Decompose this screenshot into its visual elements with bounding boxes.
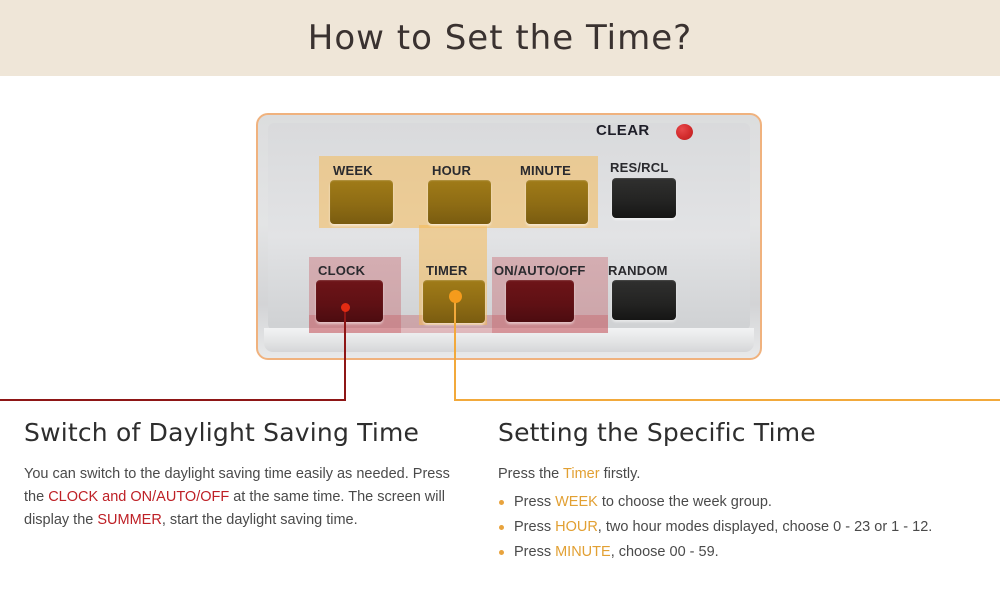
left-section: Switch of Daylight Saving Time You can s… xyxy=(24,418,474,532)
right-section-bullet-list: Press WEEK to choose the week group. Pre… xyxy=(498,490,978,565)
left-text-part3: , start the daylight saving time. xyxy=(162,512,358,528)
bullet-1-part1: Press xyxy=(514,519,555,535)
list-item: Press HOUR, two hour modes displayed, ch… xyxy=(498,515,978,540)
key-label-minute: MINUTE xyxy=(520,163,571,178)
callout-line-timer-vertical xyxy=(454,296,456,400)
clear-label: CLEAR xyxy=(596,122,650,139)
key-button-onautooff[interactable] xyxy=(506,280,574,322)
key-label-hour: HOUR xyxy=(432,163,471,178)
bullet-2-highlight: MINUTE xyxy=(555,544,611,560)
list-item: Press MINUTE, choose 00 - 59. xyxy=(498,540,978,565)
left-text-highlight-clock-onautooff: CLOCK and ON/AUTO/OFF xyxy=(48,489,229,505)
left-section-heading: Switch of Daylight Saving Time xyxy=(24,418,474,447)
callout-line-clock-vertical xyxy=(344,307,346,400)
callout-dot-clock xyxy=(341,303,350,312)
bullet-icon xyxy=(499,550,504,555)
key-label-onautooff: ON/AUTO/OFF xyxy=(494,263,586,278)
key-label-resrcl: RES/RCL xyxy=(610,160,668,175)
key-button-clock[interactable] xyxy=(316,280,383,322)
bullet-1-part2: , two hour modes displayed, choose 0 - 2… xyxy=(598,519,933,535)
bullet-2-part2: , choose 00 - 59. xyxy=(611,544,719,560)
key-label-timer: TIMER xyxy=(426,263,467,278)
bullet-1-highlight: HOUR xyxy=(555,519,598,535)
bullet-2-part1: Press xyxy=(514,544,555,560)
key-button-minute[interactable] xyxy=(526,180,588,224)
list-item: Press WEEK to choose the week group. xyxy=(498,490,978,515)
key-button-hour[interactable] xyxy=(428,180,491,224)
callout-line-clock-horizontal xyxy=(0,399,346,401)
right-intro-part1: Press the xyxy=(498,466,563,482)
bullet-icon xyxy=(499,525,504,530)
key-button-week[interactable] xyxy=(330,180,393,224)
bullet-0-highlight: WEEK xyxy=(555,494,598,510)
key-label-clock: CLOCK xyxy=(318,263,365,278)
key-label-week: WEEK xyxy=(333,163,373,178)
callout-line-timer-horizontal xyxy=(454,399,1000,401)
right-section-heading: Setting the Specific Time xyxy=(498,418,978,447)
left-section-paragraph: You can switch to the daylight saving ti… xyxy=(24,463,474,532)
led-indicator-icon xyxy=(676,124,693,140)
right-section: Setting the Specific Time Press the Time… xyxy=(498,418,978,565)
bullet-0-part1: Press xyxy=(514,494,555,510)
timer-control-panel: CLEAR WEEK HOUR MINUTE RES/RCL CLOCK TIM… xyxy=(256,113,762,360)
callout-dot-timer xyxy=(449,290,462,303)
right-intro-part2: firstly. xyxy=(600,466,641,482)
right-intro-highlight-timer: Timer xyxy=(563,466,600,482)
page-title: How to Set the Time? xyxy=(0,0,1000,76)
key-label-random: RANDOM xyxy=(608,263,668,278)
right-section-intro: Press the Timer firstly. xyxy=(498,463,978,486)
left-text-highlight-summer: SUMMER xyxy=(97,512,161,528)
key-button-random[interactable] xyxy=(612,280,676,320)
bullet-icon xyxy=(499,500,504,505)
key-button-resrcl[interactable] xyxy=(612,178,676,218)
page-header: How to Set the Time? xyxy=(0,0,1000,76)
bullet-0-part2: to choose the week group. xyxy=(598,494,772,510)
